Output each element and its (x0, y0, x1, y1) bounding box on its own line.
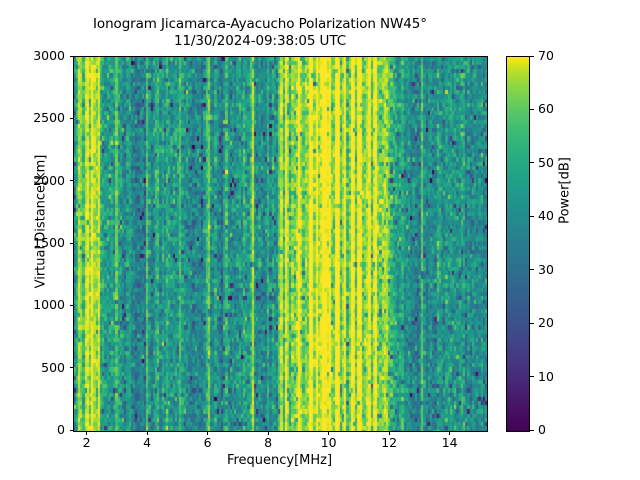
colorbar-tick-mark (530, 216, 534, 217)
x-tick-label: 2 (67, 435, 107, 450)
y-tick-label: 3000 (0, 48, 65, 63)
colorbar-tick-mark (530, 323, 534, 324)
x-axis-label: Frequency[MHz] (73, 453, 486, 468)
colorbar-tick-label: 0 (538, 422, 546, 437)
y-tick-mark (70, 243, 74, 244)
y-tick-label: 2000 (0, 173, 65, 188)
chart-title: Ionogram Jicamarca-Ayacucho Polarization… (0, 16, 520, 50)
plot-area[interactable] (73, 56, 488, 432)
y-tick-label: 2500 (0, 110, 65, 125)
y-tick-mark (70, 367, 74, 368)
y-tick-label: 1500 (0, 235, 65, 250)
colorbar-tick-label: 20 (538, 315, 554, 330)
figure-canvas: Ionogram Jicamarca-Ayacucho Polarization… (0, 0, 640, 480)
colorbar-tick-mark (530, 56, 534, 57)
colorbar-tick-label: 30 (538, 262, 554, 277)
colorbar-tick-label: 10 (538, 369, 554, 384)
chart-title-line-1: Ionogram Jicamarca-Ayacucho Polarization… (0, 16, 520, 33)
x-tick-label: 14 (430, 435, 470, 450)
y-axis-label: Virtual Distance[km] (34, 102, 49, 342)
x-tick-label: 8 (248, 435, 288, 450)
colorbar-tick-label: 60 (538, 101, 554, 116)
colorbar-tick-mark (530, 430, 534, 431)
colorbar-tick-label: 40 (538, 208, 554, 223)
colorbar[interactable] (506, 56, 530, 432)
y-tick-label: 0 (0, 422, 65, 437)
colorbar-tick-label: 50 (538, 155, 554, 170)
y-tick-label: 1000 (0, 297, 65, 312)
y-tick-mark (70, 180, 74, 181)
chart-title-line-2: 11/30/2024-09:38:05 UTC (0, 33, 520, 50)
x-tick-label: 12 (369, 435, 409, 450)
x-tick-label: 6 (188, 435, 228, 450)
x-tick-label: 10 (309, 435, 349, 450)
colorbar-label: Power[dB] (558, 131, 573, 251)
x-tick-label: 4 (127, 435, 167, 450)
colorbar-tick-mark (530, 162, 534, 163)
ionogram-heatmap (74, 57, 487, 431)
y-tick-mark (70, 305, 74, 306)
y-tick-label: 500 (0, 360, 65, 375)
colorbar-tick-mark (530, 109, 534, 110)
colorbar-tick-mark (530, 376, 534, 377)
y-tick-mark (70, 56, 74, 57)
colorbar-tick-label: 70 (538, 48, 554, 63)
y-tick-mark (70, 430, 74, 431)
y-tick-mark (70, 118, 74, 119)
colorbar-tick-mark (530, 269, 534, 270)
